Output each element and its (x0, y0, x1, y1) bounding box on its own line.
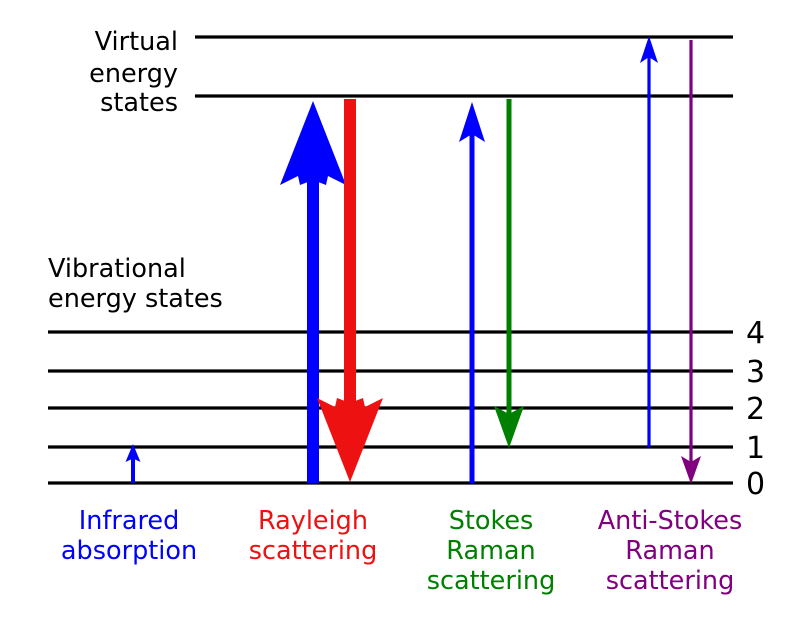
process-label-stokes-raman-scattering: Stokes Raman scattering (427, 506, 556, 596)
level-number-0: 0 (746, 467, 765, 502)
vibrational-caption-line-1: Vibrational (48, 254, 186, 284)
virtual-caption-line-3: states (100, 88, 178, 118)
virtual-energy-level-lines (195, 37, 733, 96)
level-number-3: 3 (746, 355, 765, 390)
vibrational-caption-line-2: energy states (48, 284, 223, 314)
virtual-energy-states-caption: Virtual energy states (89, 27, 178, 118)
vibrational-level-numbers: 4 3 2 1 0 (746, 316, 765, 502)
rayleigh-scattering-label-line-2: scattering (249, 536, 378, 566)
process-label-rayleigh-scattering: Rayleigh scattering (249, 506, 378, 566)
anti-stokes-excitation-transition (640, 36, 658, 447)
stokes-raman-label-line-2: Raman (446, 536, 535, 566)
virtual-caption-line-2: energy (89, 59, 178, 89)
stokes-raman-label-line-1: Stokes (449, 506, 534, 536)
anti-stokes-emission-transition (681, 40, 701, 484)
diagram-canvas: Virtual energy states Vibrational energy… (0, 0, 809, 619)
infrared-absorption-label-line-1: Infrared (79, 506, 180, 536)
process-label-anti-stokes-raman-scattering: Anti-Stokes Raman scattering (598, 506, 743, 596)
level-number-4: 4 (746, 316, 765, 351)
anti-stokes-raman-label-line-2: Raman (625, 536, 714, 566)
level-number-2: 2 (746, 392, 765, 427)
stokes-excitation-transition (459, 102, 485, 483)
stokes-raman-label-line-3: scattering (427, 566, 556, 596)
energy-level-diagram: Virtual energy states Vibrational energy… (0, 0, 809, 619)
virtual-caption-line-1: Virtual (95, 27, 178, 57)
stokes-emission-transition (494, 99, 524, 448)
infrared-absorption-label-line-2: absorption (61, 536, 197, 566)
level-number-1: 1 (746, 431, 765, 466)
anti-stokes-raman-label-line-3: scattering (606, 566, 735, 596)
process-label-infrared-absorption: Infrared absorption (61, 506, 197, 566)
rayleigh-scattering-label-line-1: Rayleigh (258, 506, 368, 536)
vibrational-energy-level-lines (48, 332, 733, 483)
rayleigh-emission-arrow-head (317, 398, 383, 482)
anti-stokes-raman-label-line-1: Anti-Stokes (598, 506, 743, 536)
vibrational-energy-states-caption: Vibrational energy states (48, 254, 223, 314)
infrared-absorption-transition (126, 444, 141, 483)
rayleigh-excitation-arrow-head (280, 101, 346, 185)
